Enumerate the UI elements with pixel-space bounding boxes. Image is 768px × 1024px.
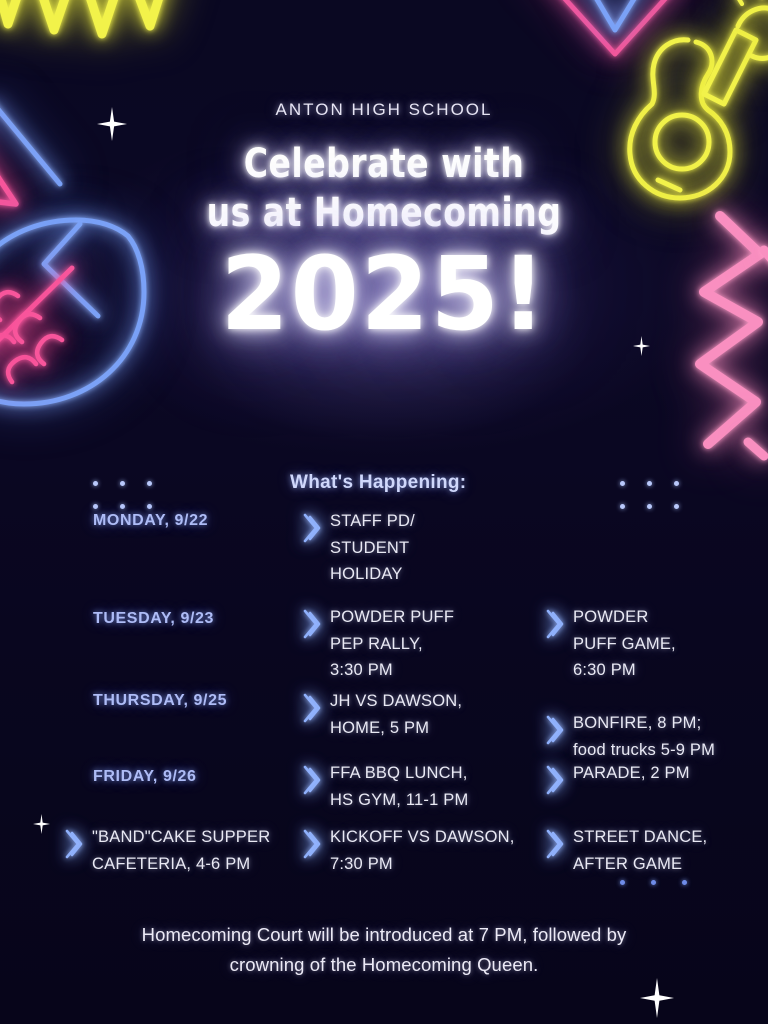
schedule-item-middle: FFA BBQ LUNCH, HS GYM, 11-1 PM — [300, 760, 540, 813]
schedule-item-text: POWDER PUFF GAME, 6:30 PM — [573, 604, 676, 684]
sparkle-icon — [640, 978, 674, 1018]
school-name: ANTON HIGH SCHOOL — [0, 100, 768, 120]
schedule-day-label: MONDAY, 9/22 — [93, 512, 208, 530]
schedule-item-middle: STAFF PD/ STUDENT HOLIDAY — [300, 508, 530, 588]
schedule-item-text: "BAND"CAKE SUPPER CAFETERIA, 4-6 PM — [92, 824, 270, 877]
schedule-item-text: KICKOFF VS DAWSON, 7:30 PM — [330, 824, 515, 877]
schedule-item-text: JH VS DAWSON, HOME, 5 PM — [330, 688, 462, 741]
chevron-icon — [300, 826, 322, 862]
main-title: Celebrate with us at Homecoming 2025! — [0, 140, 768, 346]
dot-grid-left — [93, 481, 152, 509]
schedule-item-text: BONFIRE, 8 PM; food trucks 5-9 PM — [573, 710, 715, 763]
schedule-item-left: "BAND"CAKE SUPPER CAFETERIA, 4-6 PM — [62, 824, 302, 877]
schedule-day-label: THURSDAY, 9/25 — [93, 692, 227, 710]
schedule-item-right: STREET DANCE, AFTER GAME — [543, 824, 758, 877]
schedule-item-text: POWDER PUFF PEP RALLY, 3:30 PM — [330, 604, 454, 684]
schedule-item-middle: POWDER PUFF PEP RALLY, 3:30 PM — [300, 604, 535, 684]
schedule-item-middle: KICKOFF VS DAWSON, 7:30 PM — [300, 824, 545, 877]
schedule-item-right: PARADE, 2 PM — [543, 760, 758, 798]
neon-zigzag-top-icon — [0, 0, 196, 72]
title-year: 2025! — [15, 244, 752, 346]
title-line-1: Celebrate with — [31, 140, 738, 189]
sparkle-icon — [33, 814, 50, 834]
schedule-item-right: POWDER PUFF GAME, 6:30 PM — [543, 604, 758, 684]
schedule-item-text: STREET DANCE, AFTER GAME — [573, 824, 707, 877]
schedule-item-middle: JH VS DAWSON, HOME, 5 PM — [300, 688, 535, 741]
dot-grid-right — [620, 481, 679, 509]
schedule-item-text: PARADE, 2 PM — [573, 760, 690, 787]
chevron-icon — [62, 826, 84, 862]
schedule-item-right: BONFIRE, 8 PM; food trucks 5-9 PM — [543, 710, 768, 763]
poster-header: ANTON HIGH SCHOOL Celebrate with us at H… — [0, 100, 768, 346]
schedule-day-label: FRIDAY, 9/26 — [93, 768, 197, 786]
chevron-icon — [543, 606, 565, 642]
chevron-icon — [300, 510, 322, 546]
neon-nested-chevrons-icon — [520, 0, 710, 68]
chevron-icon — [543, 762, 565, 798]
chevron-icon — [300, 762, 322, 798]
homecoming-poster: ANTON HIGH SCHOOL Celebrate with us at H… — [0, 0, 768, 1024]
footer-note: Homecoming Court will be introduced at 7… — [0, 920, 768, 980]
chevron-icon — [300, 606, 322, 642]
schedule-item-text: FFA BBQ LUNCH, HS GYM, 11-1 PM — [330, 760, 468, 813]
chevron-icon — [300, 690, 322, 726]
chevron-icon — [543, 826, 565, 862]
schedule-item-text: STAFF PD/ STUDENT HOLIDAY — [330, 508, 415, 588]
chevron-icon — [543, 712, 565, 748]
title-line-2: us at Homecoming — [31, 189, 738, 238]
dot-row-bottom — [620, 880, 687, 885]
schedule-day-label: TUESDAY, 9/23 — [93, 610, 214, 628]
schedule-heading: What's Happening: — [290, 472, 466, 494]
